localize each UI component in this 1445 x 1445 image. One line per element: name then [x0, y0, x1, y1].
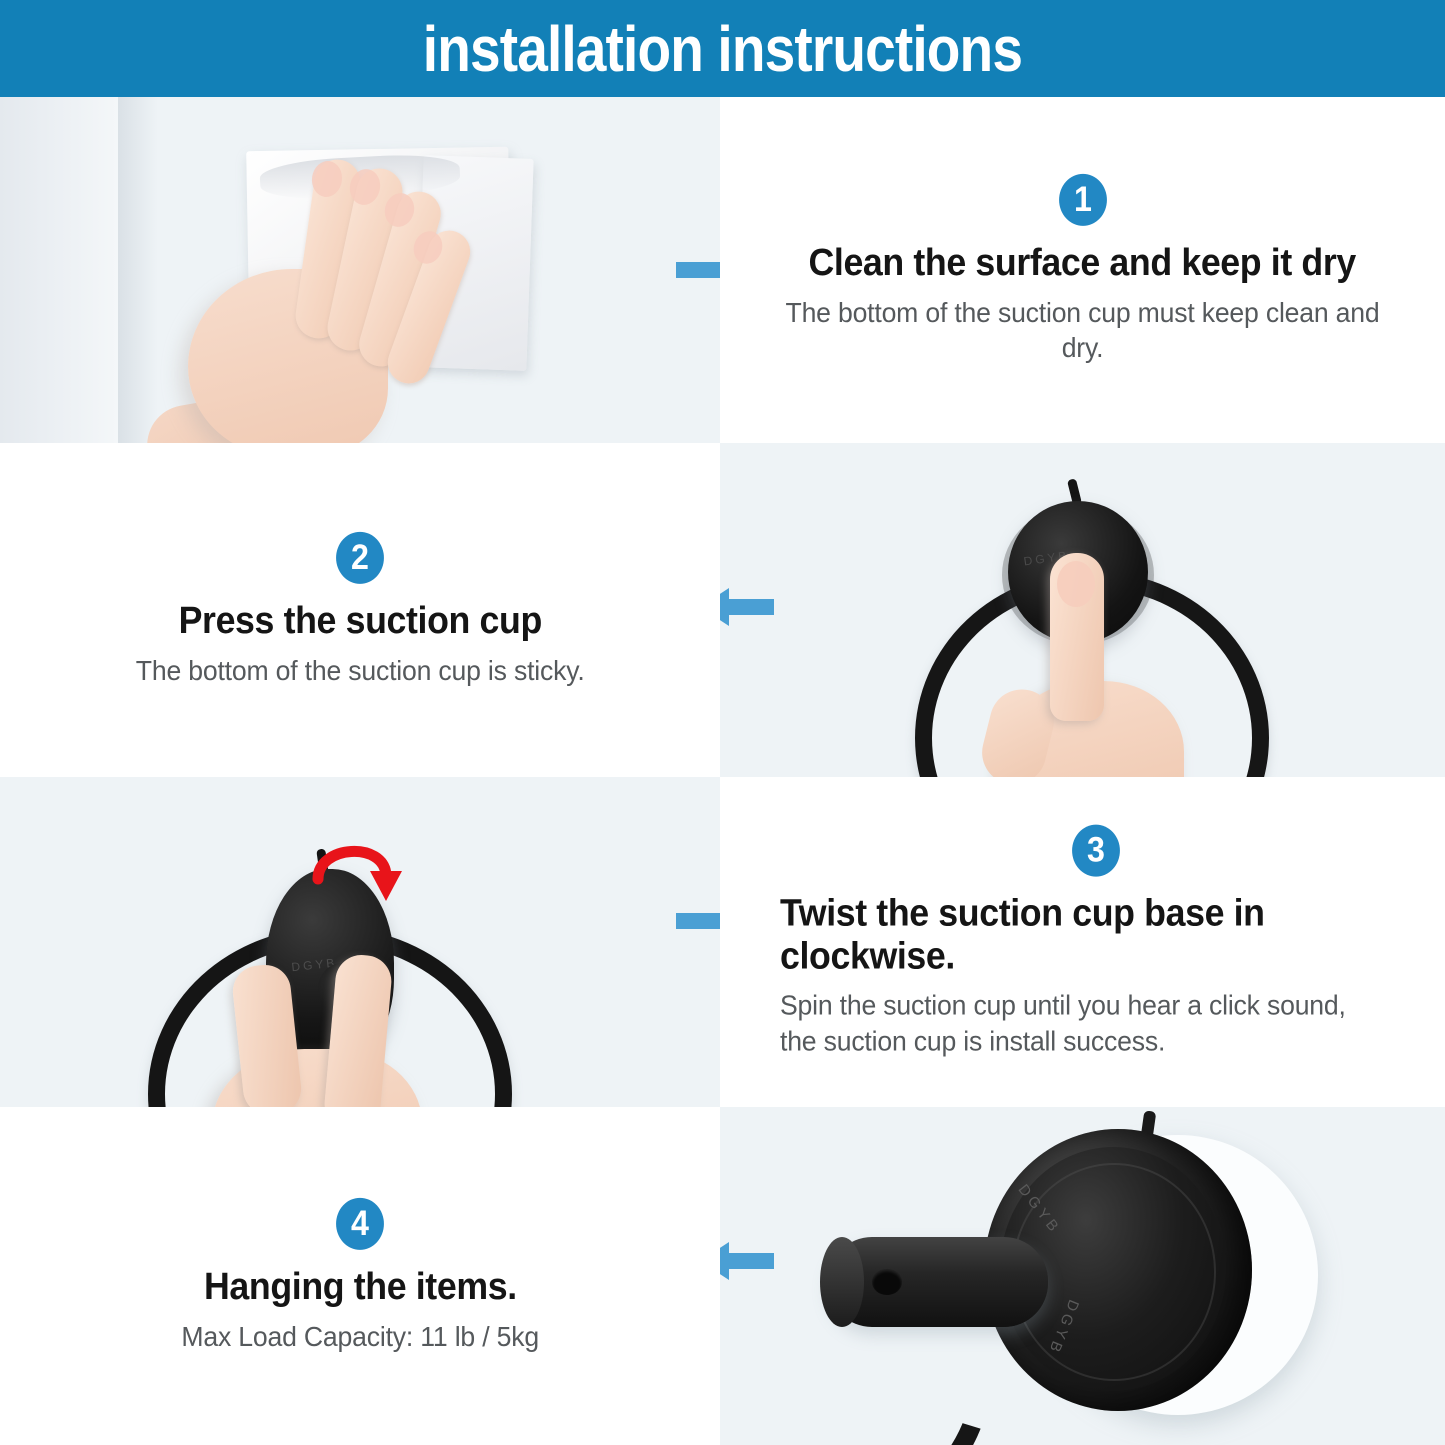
step-1-photo — [0, 97, 720, 443]
page-title: installation instructions — [423, 17, 1022, 81]
step-2-content: 2 Press the suction cup The bottom of th… — [0, 532, 720, 688]
arrow-right-icon — [676, 902, 720, 940]
step-2-text: 2 Press the suction cup The bottom of th… — [0, 443, 720, 777]
step-number-badge: 4 — [336, 1198, 384, 1250]
step-4-badge-row: 4 — [30, 1198, 690, 1250]
step-description: The bottom of the suction cup is sticky. — [136, 652, 585, 688]
wall-shadow — [118, 97, 158, 443]
step-title: Clean the surface and keep it dry — [809, 242, 1356, 285]
step-4-text: 4 Hanging the items. Max Load Capacity: … — [0, 1107, 720, 1445]
step-4-photo: DGYB DGYB — [720, 1107, 1445, 1445]
step-title: Press the suction cup — [178, 600, 541, 643]
step-3-photo: DGYB — [0, 777, 720, 1107]
step-2-photo: DGYB — [720, 443, 1445, 777]
step-title: Twist the suction cup base in clockwise. — [780, 893, 1373, 978]
step-2-badge-row: 2 — [30, 532, 690, 584]
step-3-badge-row: 3 — [780, 825, 1411, 877]
page-header: installation instructions — [0, 0, 1445, 97]
arrow-left-icon — [720, 588, 774, 626]
arrow-right-icon — [676, 251, 720, 289]
step-4-content: 4 Hanging the items. Max Load Capacity: … — [0, 1198, 720, 1354]
step-3-text: 3 Twist the suction cup base in clockwis… — [720, 777, 1445, 1107]
wall-panel — [0, 97, 118, 443]
fingernail — [1057, 561, 1095, 607]
step-number-badge: 2 — [336, 532, 384, 584]
step-number-badge: 3 — [1072, 825, 1120, 877]
step-3-content: 3 Twist the suction cup base in clockwis… — [720, 825, 1445, 1060]
step-description: The bottom of the suction cup must keep … — [767, 294, 1399, 366]
step-description: Max Load Capacity: 11 lb / 5kg — [181, 1318, 539, 1354]
step-1-content: 1 Clean the surface and keep it dry The … — [720, 174, 1445, 366]
arrow-left-icon — [720, 1242, 774, 1280]
steps-grid: 1 Clean the surface and keep it dry The … — [0, 97, 1445, 1445]
step-title: Hanging the items. — [204, 1266, 517, 1309]
step-1-badge-row: 1 — [750, 174, 1415, 226]
step-number-badge: 1 — [1059, 174, 1107, 226]
step-description: Spin the suction cup until you hear a cl… — [780, 988, 1379, 1060]
step-1-text: 1 Clean the surface and keep it dry The … — [720, 97, 1445, 443]
rotate-clockwise-icon — [312, 835, 402, 905]
infographic-page: installation instructions — [0, 0, 1445, 1445]
brand-text-bottom: DGYB — [1044, 1297, 1082, 1358]
